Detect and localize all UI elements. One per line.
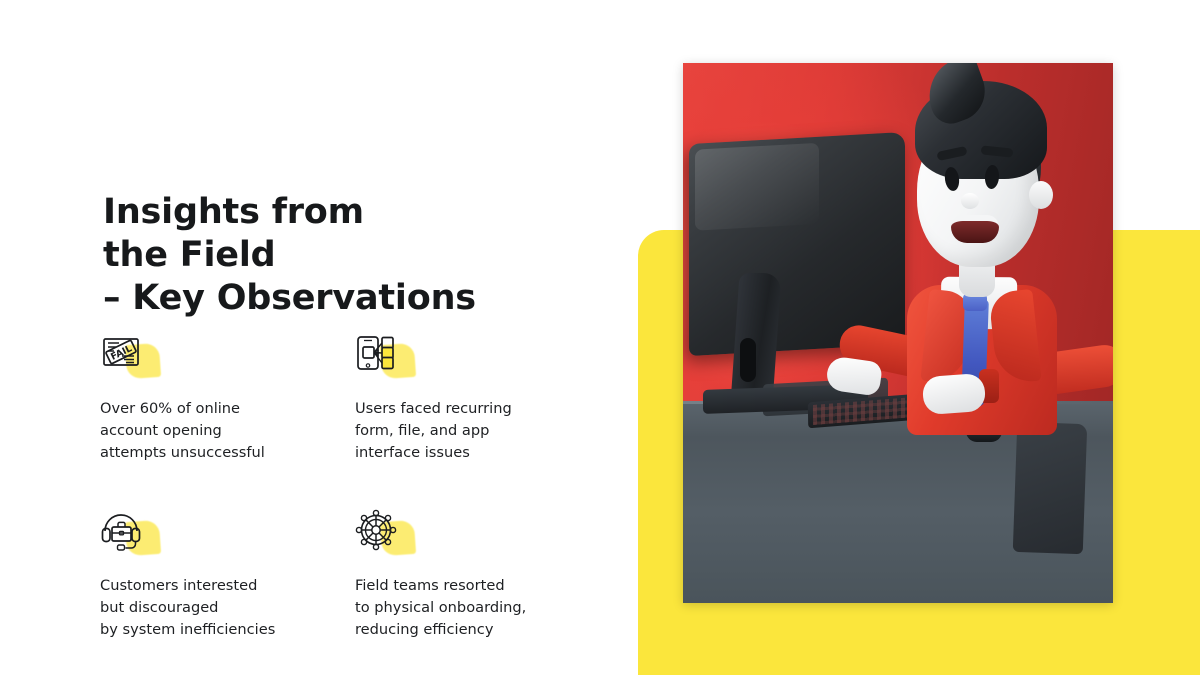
headset-briefcase-icon [100, 509, 160, 555]
observations-row-1: FAIL Over 60% of online account opening … [100, 332, 570, 465]
page-title-line-2: the Field [103, 234, 583, 277]
observation-text-4: Field teams resorted to physical onboard… [355, 575, 558, 642]
page-title-line-1: Insights from [103, 191, 583, 234]
ships-wheel-icon [355, 509, 415, 555]
character-ear [1029, 181, 1053, 209]
observations-grid: FAIL Over 60% of online account opening … [100, 332, 570, 641]
observation-item-1: FAIL Over 60% of online account opening … [100, 332, 355, 465]
mobile-app-interface-glyph [355, 332, 401, 376]
photo-character [889, 63, 1099, 483]
observation-text-4-line-1: Field teams resorted [355, 577, 505, 594]
observation-text-2: Users faced recurring form, file, and ap… [355, 398, 558, 465]
observation-text-1-line-3: attempts unsuccessful [100, 444, 265, 461]
mobile-app-interface-icon [355, 332, 415, 378]
character-mouth [951, 215, 999, 243]
observation-text-2-line-3: interface issues [355, 444, 470, 461]
slide-canvas: Insights from the Field – Key Observatio… [0, 0, 1200, 675]
hero-photo [683, 63, 1113, 603]
photo-monitor-stand-hole [740, 338, 756, 382]
character-nose [961, 193, 979, 209]
observation-text-2-line-2: form, file, and app [355, 422, 489, 439]
failed-document-glyph: FAIL [100, 332, 146, 376]
page-title-line-3: – Key Observations [103, 277, 583, 320]
headset-briefcase-glyph [100, 509, 146, 553]
observation-text-3-line-2: but discouraged [100, 599, 218, 616]
observation-text-3-line-1: Customers interested [100, 577, 257, 594]
observation-text-4-line-2: to physical onboarding, [355, 599, 526, 616]
observation-item-4: Field teams resorted to physical onboard… [355, 509, 570, 642]
ships-wheel-glyph [355, 509, 401, 553]
observation-text-1-line-1: Over 60% of online [100, 400, 240, 417]
observations-row-2: Customers interested but discouraged by … [100, 509, 570, 642]
observation-text-1: Over 60% of online account opening attem… [100, 398, 343, 465]
observation-text-1-line-2: account opening [100, 422, 222, 439]
page-title: Insights from the Field – Key Observatio… [103, 191, 583, 319]
failed-document-icon: FAIL [100, 332, 160, 378]
observation-item-2: Users faced recurring form, file, and ap… [355, 332, 570, 465]
grid-row-spacer [100, 465, 570, 509]
character-right-hand [922, 373, 986, 415]
photo-inner [683, 63, 1113, 603]
observation-text-3: Customers interested but discouraged by … [100, 575, 343, 642]
observation-text-2-line-1: Users faced recurring [355, 400, 512, 417]
photo-monitor-panel [689, 132, 905, 356]
observation-item-3: Customers interested but discouraged by … [100, 509, 355, 642]
observation-text-3-line-3: by system inefficiencies [100, 621, 275, 638]
observation-text-4-line-3: reducing efficiency [355, 621, 493, 638]
